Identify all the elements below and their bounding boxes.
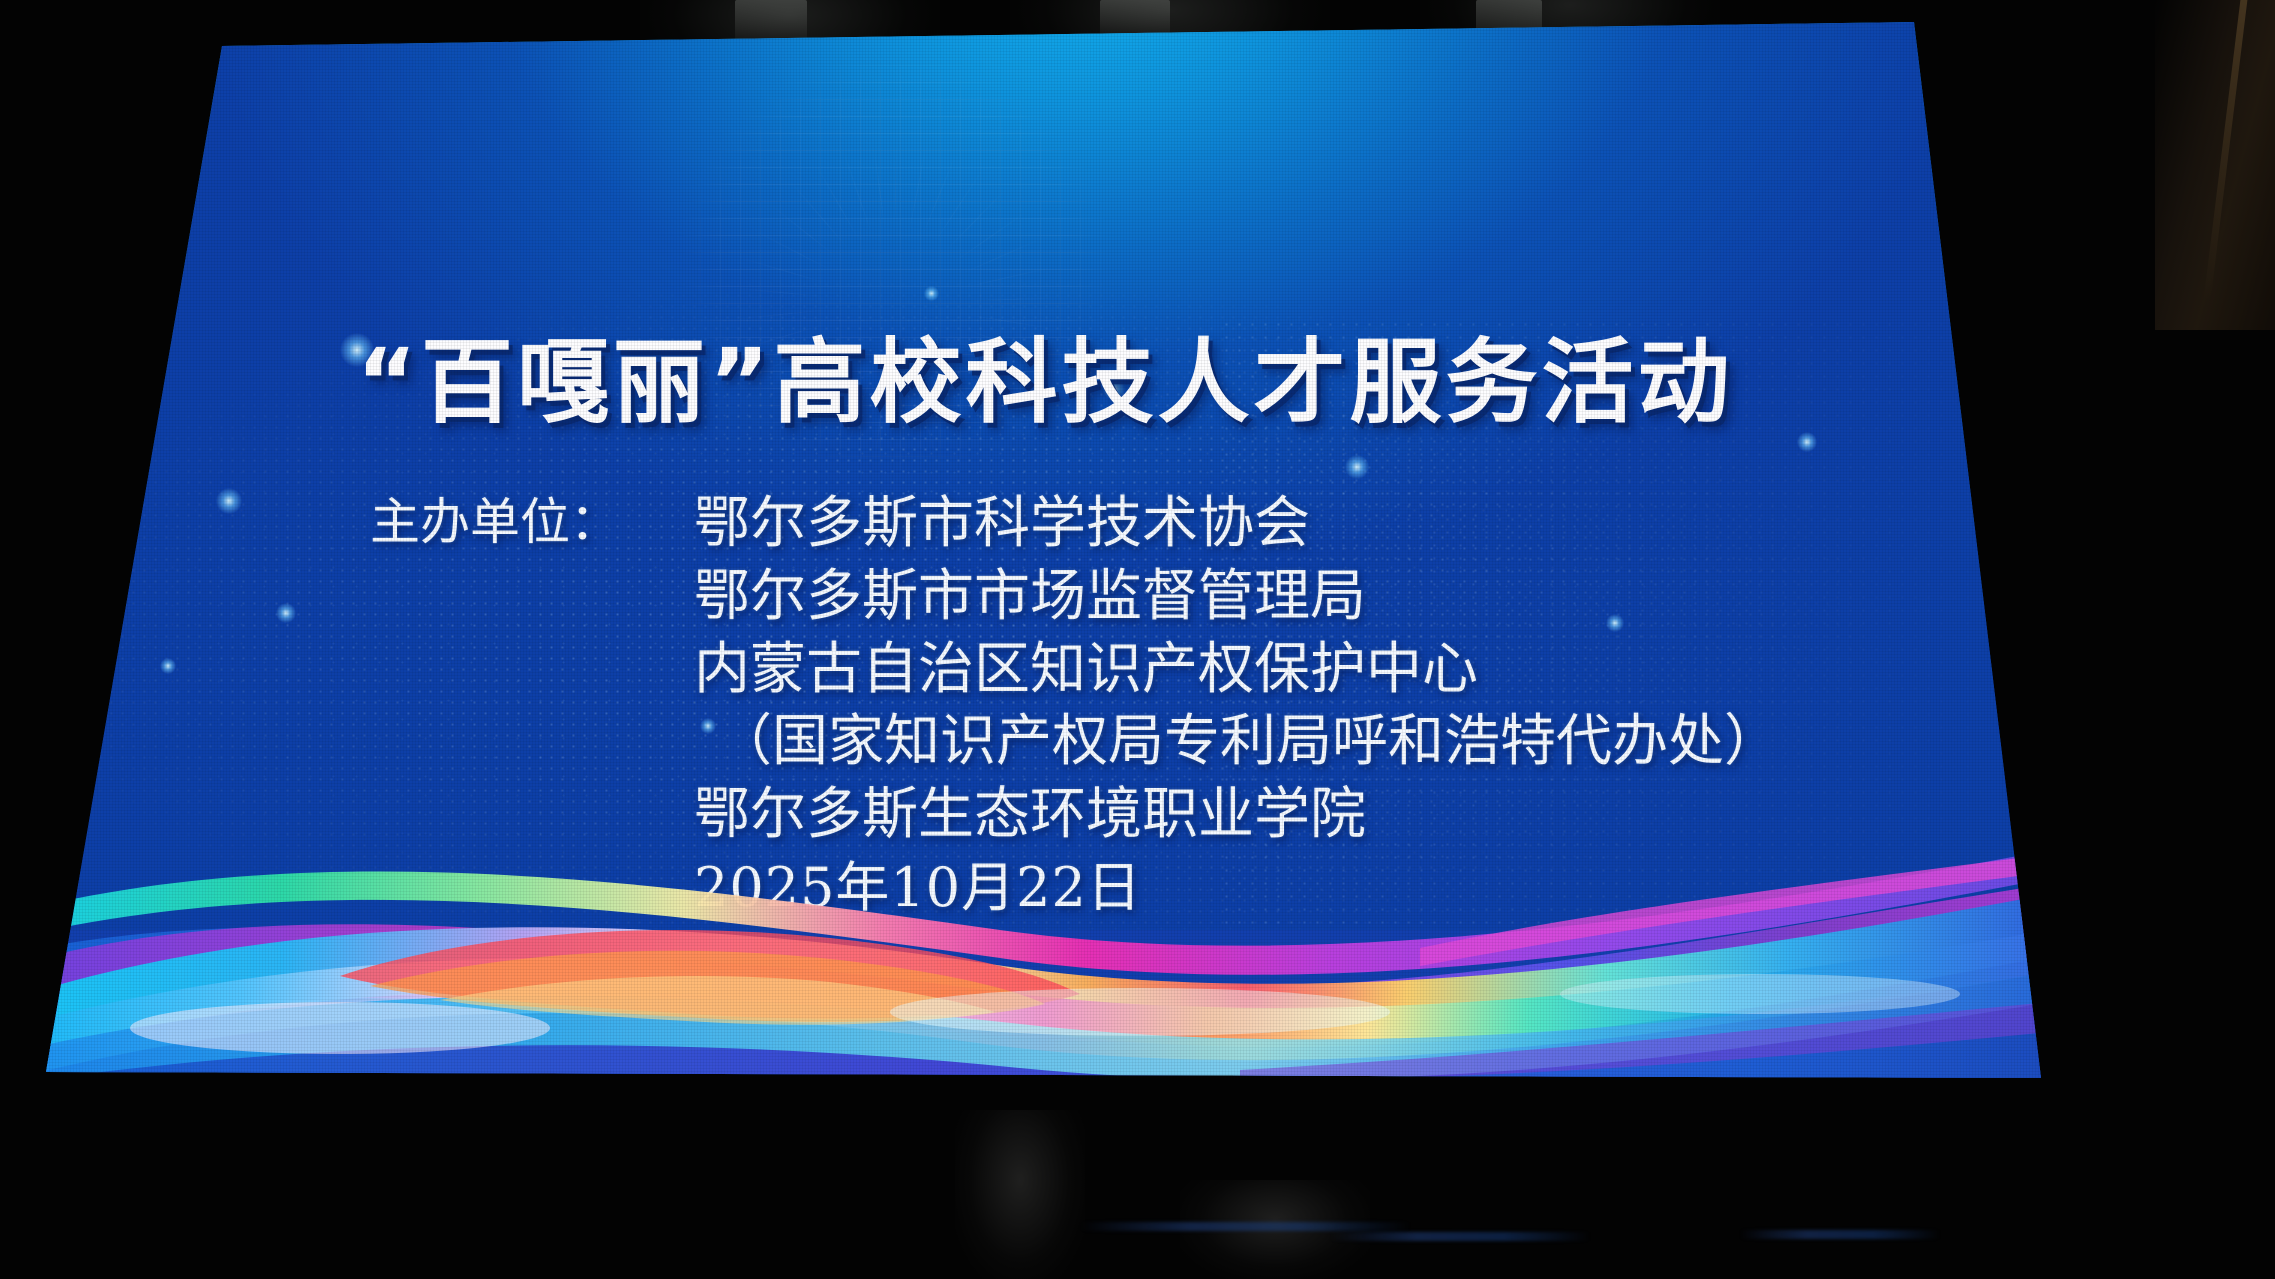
- glow-spark: [216, 488, 242, 514]
- glow-spark: [160, 658, 176, 674]
- floor-light-strip-far-right: [1740, 1230, 1940, 1239]
- organizer-label: 主办单位：: [370, 488, 620, 555]
- floor-light-strip-left: [1080, 1222, 1410, 1231]
- glow-spark: [1345, 455, 1369, 479]
- hall-right-pillar: [2155, 0, 2275, 330]
- page-title: “百嘎丽”高校科技人才服务活动: [40, 308, 2050, 441]
- organizer-entry: 鄂尔多斯市科学技术协会: [694, 488, 1780, 561]
- wave-core-glow-center: [890, 988, 1390, 1036]
- wave-core-glow-left: [130, 1002, 550, 1054]
- led-screen-surface: “百嘎丽”高校科技人才服务活动 主办单位： 鄂尔多斯市科学技术协会 鄂尔多斯市市…: [40, 18, 2050, 1080]
- hall-right-pillar-edge: [2204, 0, 2248, 300]
- wave-svg: [40, 780, 2050, 1080]
- organizer-entry: 鄂尔多斯市市场监督管理局: [694, 561, 1780, 634]
- rainbow-wave-graphic: [40, 780, 2050, 1080]
- audience-silhouette: [1180, 1180, 1370, 1279]
- wave-core-glow-right: [1560, 974, 1960, 1014]
- floor-light-strip-right: [1330, 1232, 1590, 1241]
- glow-spark: [924, 286, 939, 301]
- organizer-entry-note: （国家知识产权局专利局呼和浩特代办处）: [694, 706, 1780, 779]
- glow-spark: [276, 603, 296, 623]
- organizer-entry: 内蒙古自治区知识产权保护中心: [694, 634, 1780, 707]
- audience-silhouette: [955, 1110, 1085, 1279]
